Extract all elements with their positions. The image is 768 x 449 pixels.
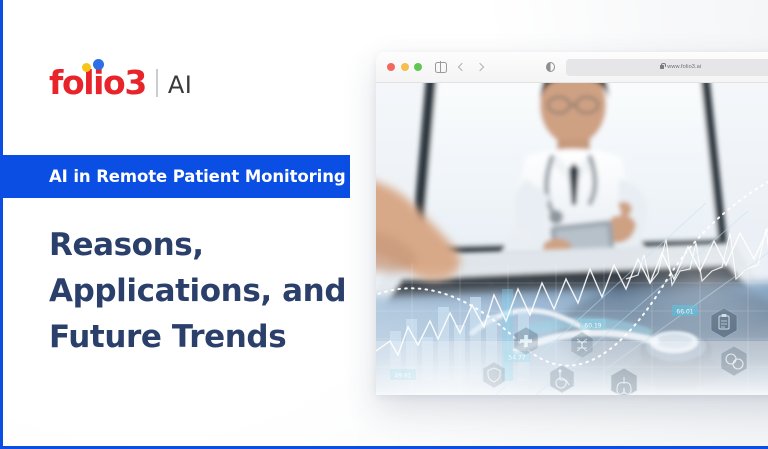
address-bar-url: www.folio3.ai xyxy=(667,64,701,70)
page-title-line-1: Reasons, xyxy=(49,222,359,268)
navigation-buttons[interactable] xyxy=(459,64,483,70)
hero-image: 73.52 66.01 60.19 54.77 49.61 xyxy=(376,83,768,395)
back-arrow-icon[interactable] xyxy=(457,63,465,71)
lock-icon xyxy=(660,65,664,68)
address-bar[interactable]: www.folio3.ai xyxy=(566,59,768,76)
brand-logo[interactable]: folio3 AI xyxy=(49,66,192,100)
logo-blue-dot-icon xyxy=(93,59,104,70)
slide-canvas: folio3 AI AI in Remote Patient Monitorin… xyxy=(0,0,768,449)
sidebar-toggle-icon[interactable] xyxy=(435,62,447,73)
logo-mark: folio3 xyxy=(49,66,146,100)
topic-banner-label: AI in Remote Patient Monitoring xyxy=(49,167,346,186)
page-title-line-3: Future Trends xyxy=(49,314,359,360)
forward-arrow-icon[interactable] xyxy=(475,63,483,71)
logo-yellow-dot-icon xyxy=(82,63,91,72)
maximize-window-icon[interactable] xyxy=(414,63,422,71)
page-title: Reasons, Applications, and Future Trends xyxy=(49,222,359,360)
minimize-window-icon[interactable] xyxy=(401,63,409,71)
hero-image-artwork: 73.52 66.01 60.19 54.77 49.61 xyxy=(376,83,768,395)
window-controls[interactable] xyxy=(387,63,422,71)
appearance-toggle-icon[interactable] xyxy=(546,62,555,72)
svg-text:60.19: 60.19 xyxy=(584,323,601,330)
close-window-icon[interactable] xyxy=(387,63,395,71)
logo-divider xyxy=(156,69,158,97)
logo-suffix: AI xyxy=(168,72,193,98)
browser-window: www.folio3.ai xyxy=(376,52,768,395)
browser-toolbar: www.folio3.ai xyxy=(376,52,768,83)
page-title-line-2: Applications, and xyxy=(49,268,359,314)
topic-banner: AI in Remote Patient Monitoring xyxy=(0,155,350,198)
